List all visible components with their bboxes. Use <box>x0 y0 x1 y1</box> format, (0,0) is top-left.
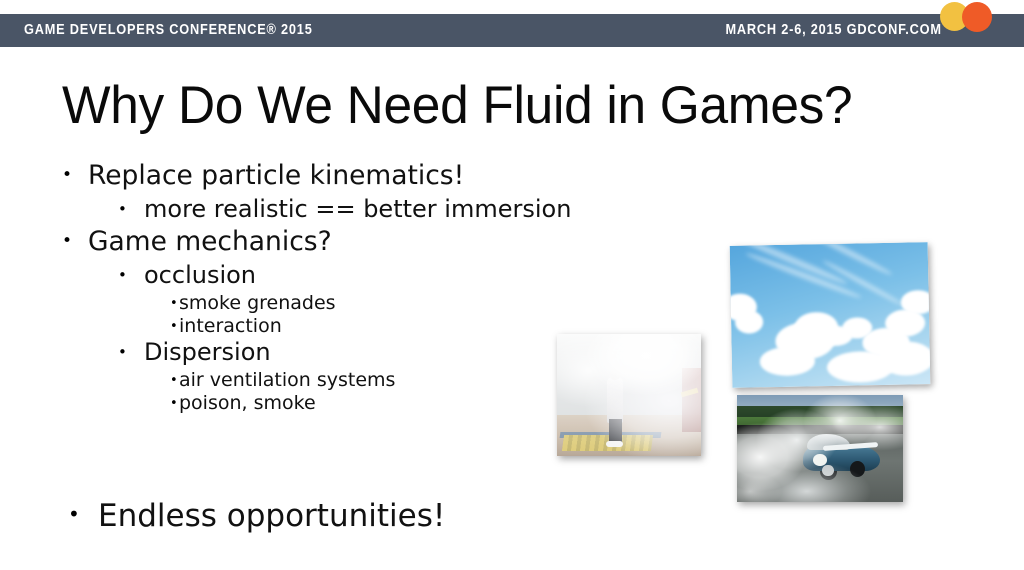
bullet-text: more realistic == better immersion <box>144 195 571 223</box>
bullet-dot-icon <box>62 235 88 255</box>
bullet-text: Game mechanics? <box>88 226 332 257</box>
tire-smoke-overlay <box>737 395 903 502</box>
bullet-text: air ventilation systems <box>179 369 395 391</box>
bullet-item: Game mechanics? <box>0 226 700 257</box>
conference-name-label: GAME DEVELOPERS CONFERENCE® 2015 <box>24 22 313 38</box>
bullet-dot-icon <box>170 294 179 313</box>
photo-fog-person <box>557 334 701 456</box>
conference-date-site-label: MARCH 2-6, 2015 GDCONF.COM <box>726 22 942 38</box>
bullet-text: interaction <box>179 315 282 337</box>
bullet-dot-icon <box>62 169 88 189</box>
bullet-dot-icon <box>170 394 179 413</box>
bullet-dot-icon <box>118 345 144 364</box>
car-scene <box>737 395 903 502</box>
bullet-dot-icon <box>170 371 179 390</box>
bullet-dot-icon <box>68 507 98 531</box>
bullet-text: Dispersion <box>144 338 271 366</box>
bullet-dot-icon <box>118 268 144 287</box>
bullet-text: smoke grenades <box>179 292 336 314</box>
bullet-item: occlusion <box>0 261 700 289</box>
slide-title: Why Do We Need Fluid in Games? <box>62 78 935 134</box>
bullet-item: more realistic == better immersion <box>0 195 700 223</box>
fog-scene <box>557 334 701 456</box>
bullet-text: occlusion <box>144 261 256 289</box>
gdc-header-bar: GAME DEVELOPERS CONFERENCE® 2015 MARCH 2… <box>0 14 1024 47</box>
gdc-logo-icon <box>940 2 1000 36</box>
bullet-dot-icon <box>118 202 144 221</box>
bullet-dot-icon <box>170 317 179 336</box>
final-bullet-text: Endless opportunities! <box>98 498 445 534</box>
bullet-item: Replace particle kinematics! <box>0 160 700 191</box>
photo-sky-clouds <box>730 242 931 388</box>
bullet-item: smoke grenades <box>0 292 700 314</box>
cirrus-wisp <box>822 259 904 307</box>
cumulus-cloud <box>735 311 763 334</box>
photo-race-car-burnout <box>737 395 903 502</box>
final-bullet-item: Endless opportunities! <box>0 498 445 534</box>
cumulus-cloud <box>901 290 931 315</box>
sky-scene <box>730 242 931 388</box>
bullet-text: Replace particle kinematics! <box>88 160 464 191</box>
bullet-text: poison, smoke <box>179 392 316 414</box>
logo-orange-circle-icon <box>962 2 992 32</box>
cumulus-cloud <box>759 347 815 376</box>
fog-haze-overlay <box>557 334 701 456</box>
